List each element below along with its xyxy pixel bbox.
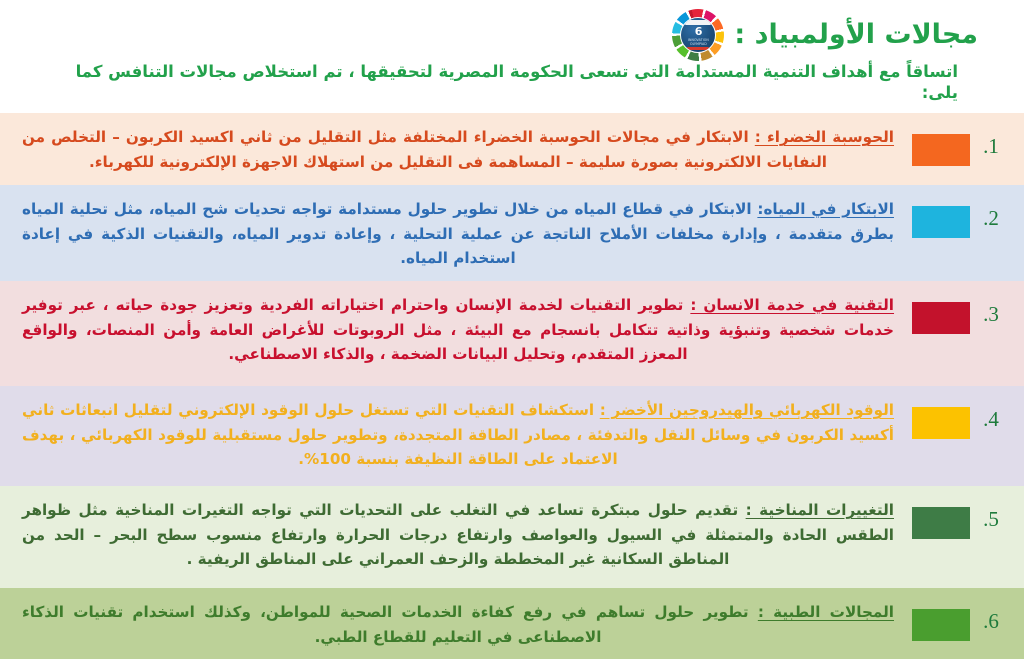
item-color-swatch [912,302,970,334]
list-item: .3 التقنية في خدمة الانسان : تطوير التقن… [0,281,1024,386]
item-text: التغييرات المناخية : تقديم حلول مبتكرة ت… [16,497,900,572]
slide-subtitle: اتساقاً مع أهداف التنمية المستدامة التي … [66,62,958,103]
item-lead: الابتكار في المياه: [757,200,894,218]
item-color-swatch [912,206,970,238]
list-item: .5 التغييرات المناخية : تقديم حلول مبتكر… [0,486,1024,588]
item-text: الابتكار في المياه: الابتكار في قطاع الم… [16,196,900,271]
item-lead: التقنية في خدمة الانسان : [690,296,894,314]
item-text: المجالات الطبية : تطوير حلول تساهم في رف… [16,599,900,649]
item-number: .4 [972,397,1010,431]
page-title: مجالات الأولمبياد : [734,20,978,50]
item-number: .2 [972,196,1010,230]
logo-caption: INNOVATION OLYMPIAD [681,38,715,46]
logo-number: 6 [695,26,702,37]
sdg-wheel-logo: 6 INNOVATION OLYMPIAD [672,9,724,61]
list-item: .1 الحوسبة الخضراء : الابتكار في مجالات … [0,113,1024,185]
list-item: .4 الوقود الكهربائي والهيدروجين الأخضر :… [0,386,1024,486]
item-lead: الحوسبة الخضراء : [755,128,894,146]
item-color-swatch [912,507,970,539]
item-text: الوقود الكهربائي والهيدروجين الأخضر : اس… [16,397,900,472]
item-color-swatch [912,407,970,439]
list-item: .6 المجالات الطبية : تطوير حلول تساهم في… [0,588,1024,659]
item-number: .5 [972,497,1010,531]
item-body: تطوير حلول تساهم في رفع كفاءة الخدمات ال… [22,603,758,646]
olympiad-fields-list: .1 الحوسبة الخضراء : الابتكار في مجالات … [0,113,1024,659]
logo-core: 6 INNOVATION OLYMPIAD [680,17,716,53]
item-number: .6 [972,599,1010,633]
item-body: الابتكار في مجالات الحوسبة الخضراء المخت… [22,128,827,171]
list-item: .2 الابتكار في المياه: الابتكار في قطاع … [0,185,1024,281]
slide-header: مجالات الأولمبياد : 6 INNOVATION OLYMPIA… [0,0,1024,110]
item-color-swatch [912,134,970,166]
item-lead: الوقود الكهربائي والهيدروجين الأخضر : [600,401,894,419]
item-number: .3 [972,292,1010,326]
slide-root: مجالات الأولمبياد : 6 INNOVATION OLYMPIA… [0,0,1024,638]
item-lead: المجالات الطبية : [758,603,894,621]
logo-bottom-bar [687,47,709,50]
item-number: .1 [972,124,1010,158]
item-text: التقنية في خدمة الانسان : تطوير التقنيات… [16,292,900,367]
item-color-swatch [912,609,970,641]
item-lead: التغييرات المناخية : [746,501,894,519]
item-text: الحوسبة الخضراء : الابتكار في مجالات الح… [16,124,900,174]
title-row: مجالات الأولمبياد : 6 INNOVATION OLYMPIA… [672,9,978,61]
